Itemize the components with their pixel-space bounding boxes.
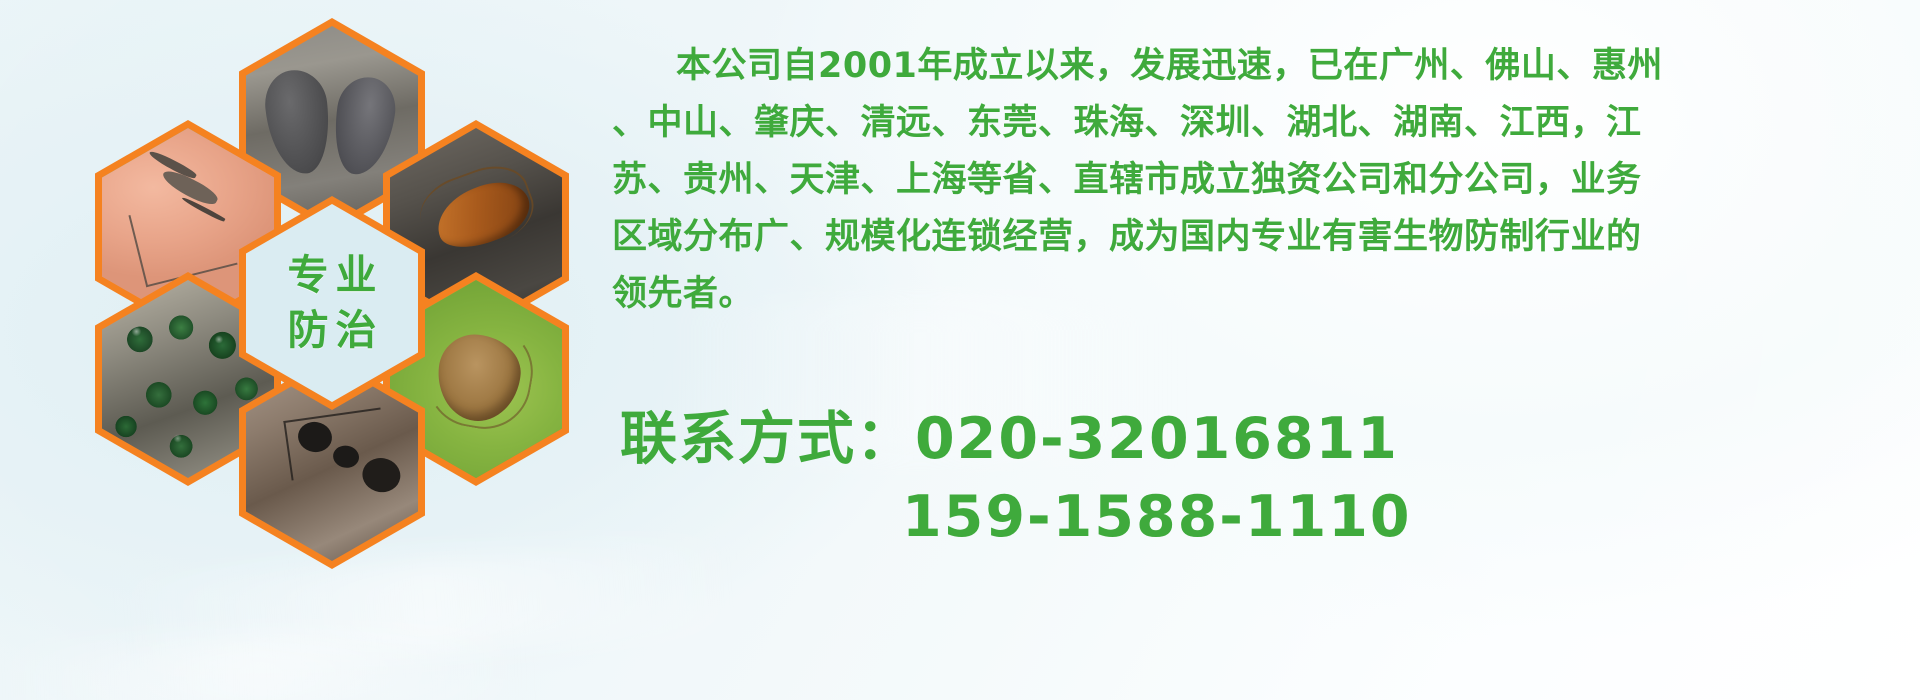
hexagon-photo-cluster: 专业 防治 [95, 10, 585, 570]
contact-primary-phone[interactable]: 联系方式：020-32016811 [620, 400, 1820, 478]
slogan-line-2: 防治 [281, 303, 384, 358]
description-line-5: 领先者。 [612, 266, 1902, 323]
background-light-streak [0, 631, 521, 700]
company-description: 本公司自2001年成立以来，发展迅速，已在广州、佛山、惠州 、中山、肇庆、清远、… [612, 38, 1902, 323]
contact-secondary-phone[interactable]: 159-1588-1110 [620, 478, 1820, 556]
description-line-3: 苏、贵州、天津、上海等省、直辖市成立独资公司和分公司，业务 [612, 152, 1902, 209]
description-line-4: 区域分布广、规模化连锁经营，成为国内专业有害生物防制行业的 [612, 209, 1902, 266]
promo-banner: 专业 防治 本公司自2001年成立以来，发展迅速，已在广州、佛山、惠州 、中山、… [0, 0, 1920, 700]
contact-block: 联系方式：020-32016811 159-1588-1110 [620, 400, 1820, 556]
slogan-line-1: 专业 [281, 248, 384, 303]
description-line-2: 、中山、肇庆、清远、东莞、珠海、深圳、湖北、湖南、江西，江 [612, 95, 1902, 152]
description-line-1: 本公司自2001年成立以来，发展迅速，已在广州、佛山、惠州 [612, 38, 1902, 95]
